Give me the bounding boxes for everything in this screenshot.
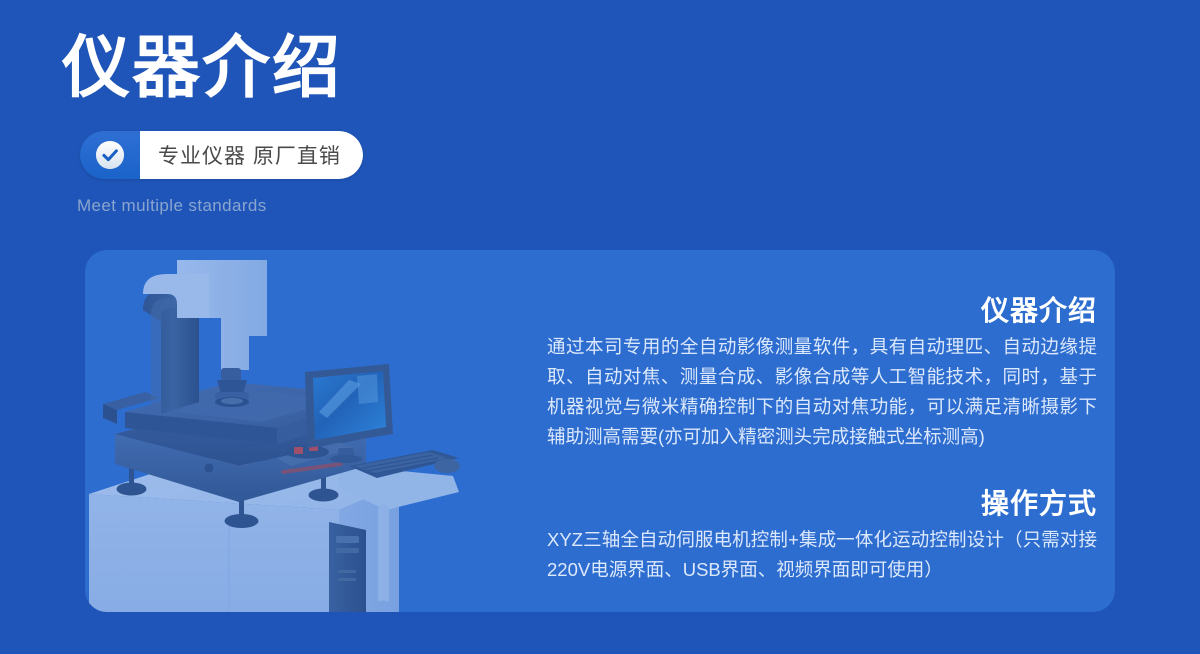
page-subtitle-english: Meet multiple standards [77, 196, 267, 216]
machine-image [85, 250, 465, 612]
badge-text-container: 专业仪器 原厂直销 [140, 131, 363, 179]
page-title: 仪器介绍 [62, 24, 342, 112]
section-body-instrument-intro: 通过本司专用的全自动影像测量软件，具有自动理匹、自动边缘提取、自动对焦、测量合成… [547, 332, 1097, 452]
certification-badge: 专业仪器 原厂直销 [80, 131, 363, 179]
section-body-operation-method: XYZ三轴全自动伺服电机控制+集成一体化运动控制设计（只需对接220V电源界面、… [547, 525, 1097, 585]
card-text-column: 仪器介绍 通过本司专用的全自动影像测量软件，具有自动理匹、自动边缘提取、自动对焦… [465, 250, 1115, 612]
check-circle-icon [95, 140, 125, 170]
section-heading-instrument-intro: 仪器介绍 [981, 289, 1097, 329]
content-card: 仪器介绍 通过本司专用的全自动影像测量软件，具有自动理匹、自动边缘提取、自动对焦… [85, 250, 1115, 612]
vision-measuring-machine-illustration [85, 252, 465, 612]
page-header: 仪器介绍 专业仪器 原厂直销 Meet multiple standards [0, 0, 1200, 250]
badge-label: 专业仪器 原厂直销 [158, 140, 341, 170]
badge-icon-container [80, 131, 140, 179]
section-heading-operation-method: 操作方式 [981, 482, 1097, 522]
